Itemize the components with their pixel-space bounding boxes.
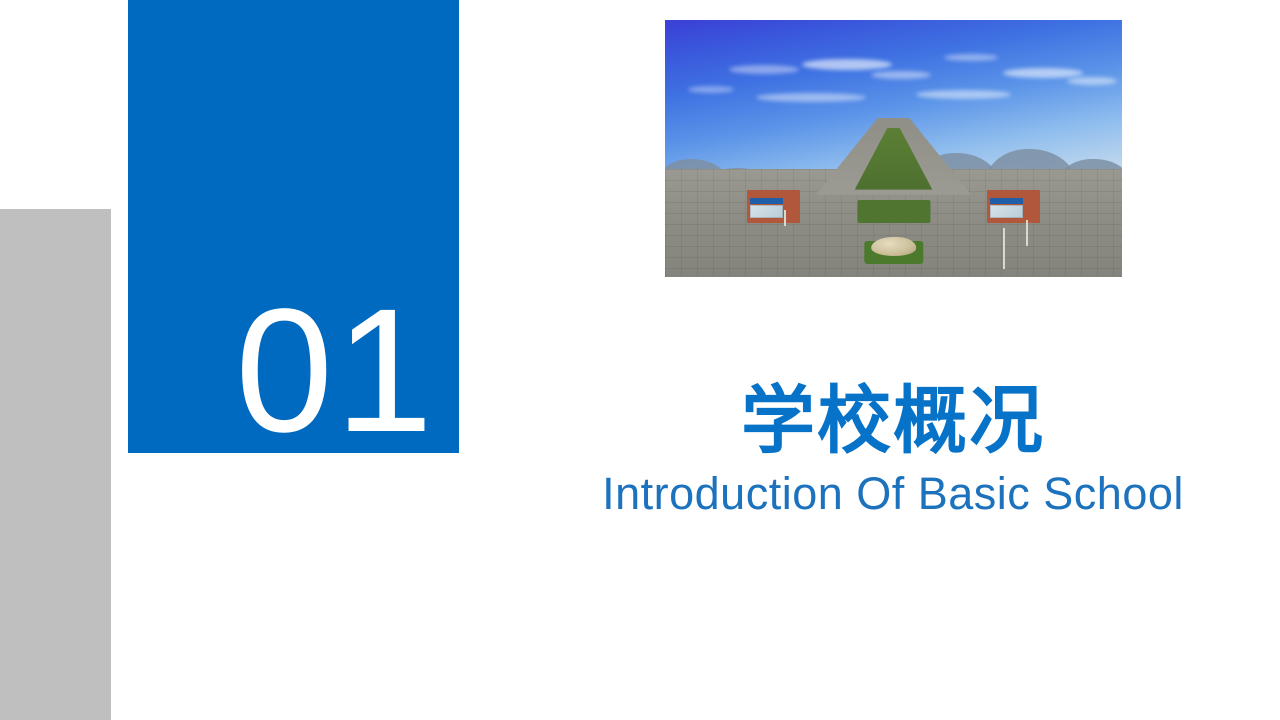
cloud-icon xyxy=(802,59,892,70)
section-number-panel: 01 xyxy=(128,0,459,453)
section-number: 01 xyxy=(235,283,435,459)
gatehouse-right xyxy=(987,190,1040,223)
slide-canvas: 01 xyxy=(0,0,1280,720)
photo-content xyxy=(665,20,1122,277)
cloud-icon xyxy=(1003,68,1083,78)
section-title-english: Introduction Of Basic School xyxy=(600,470,1186,517)
gray-accent-bar xyxy=(0,209,111,720)
campus-aerial-photo xyxy=(665,20,1122,277)
gatehouse-signboard xyxy=(990,198,1023,203)
lamp-pole xyxy=(1026,220,1028,246)
gatehouse-signboard xyxy=(750,198,783,203)
avenue-median-near xyxy=(857,200,930,223)
cloud-icon xyxy=(916,90,1011,99)
cloud-icon xyxy=(729,65,799,74)
section-title-block: 学校概况 Introduction Of Basic School xyxy=(600,384,1186,517)
cloud-icon xyxy=(871,71,931,79)
monument-stone xyxy=(871,237,917,256)
lamp-pole xyxy=(1003,228,1005,269)
section-title-chinese: 学校概况 xyxy=(600,384,1186,458)
cloud-icon xyxy=(688,86,734,93)
cloud-icon xyxy=(756,93,866,102)
gatehouse-left xyxy=(747,190,800,223)
gatehouse-window xyxy=(990,205,1023,218)
lamp-pole xyxy=(784,210,786,225)
cloud-icon xyxy=(1067,77,1117,85)
cloud-icon xyxy=(944,54,998,61)
gatehouse-window xyxy=(750,205,783,218)
